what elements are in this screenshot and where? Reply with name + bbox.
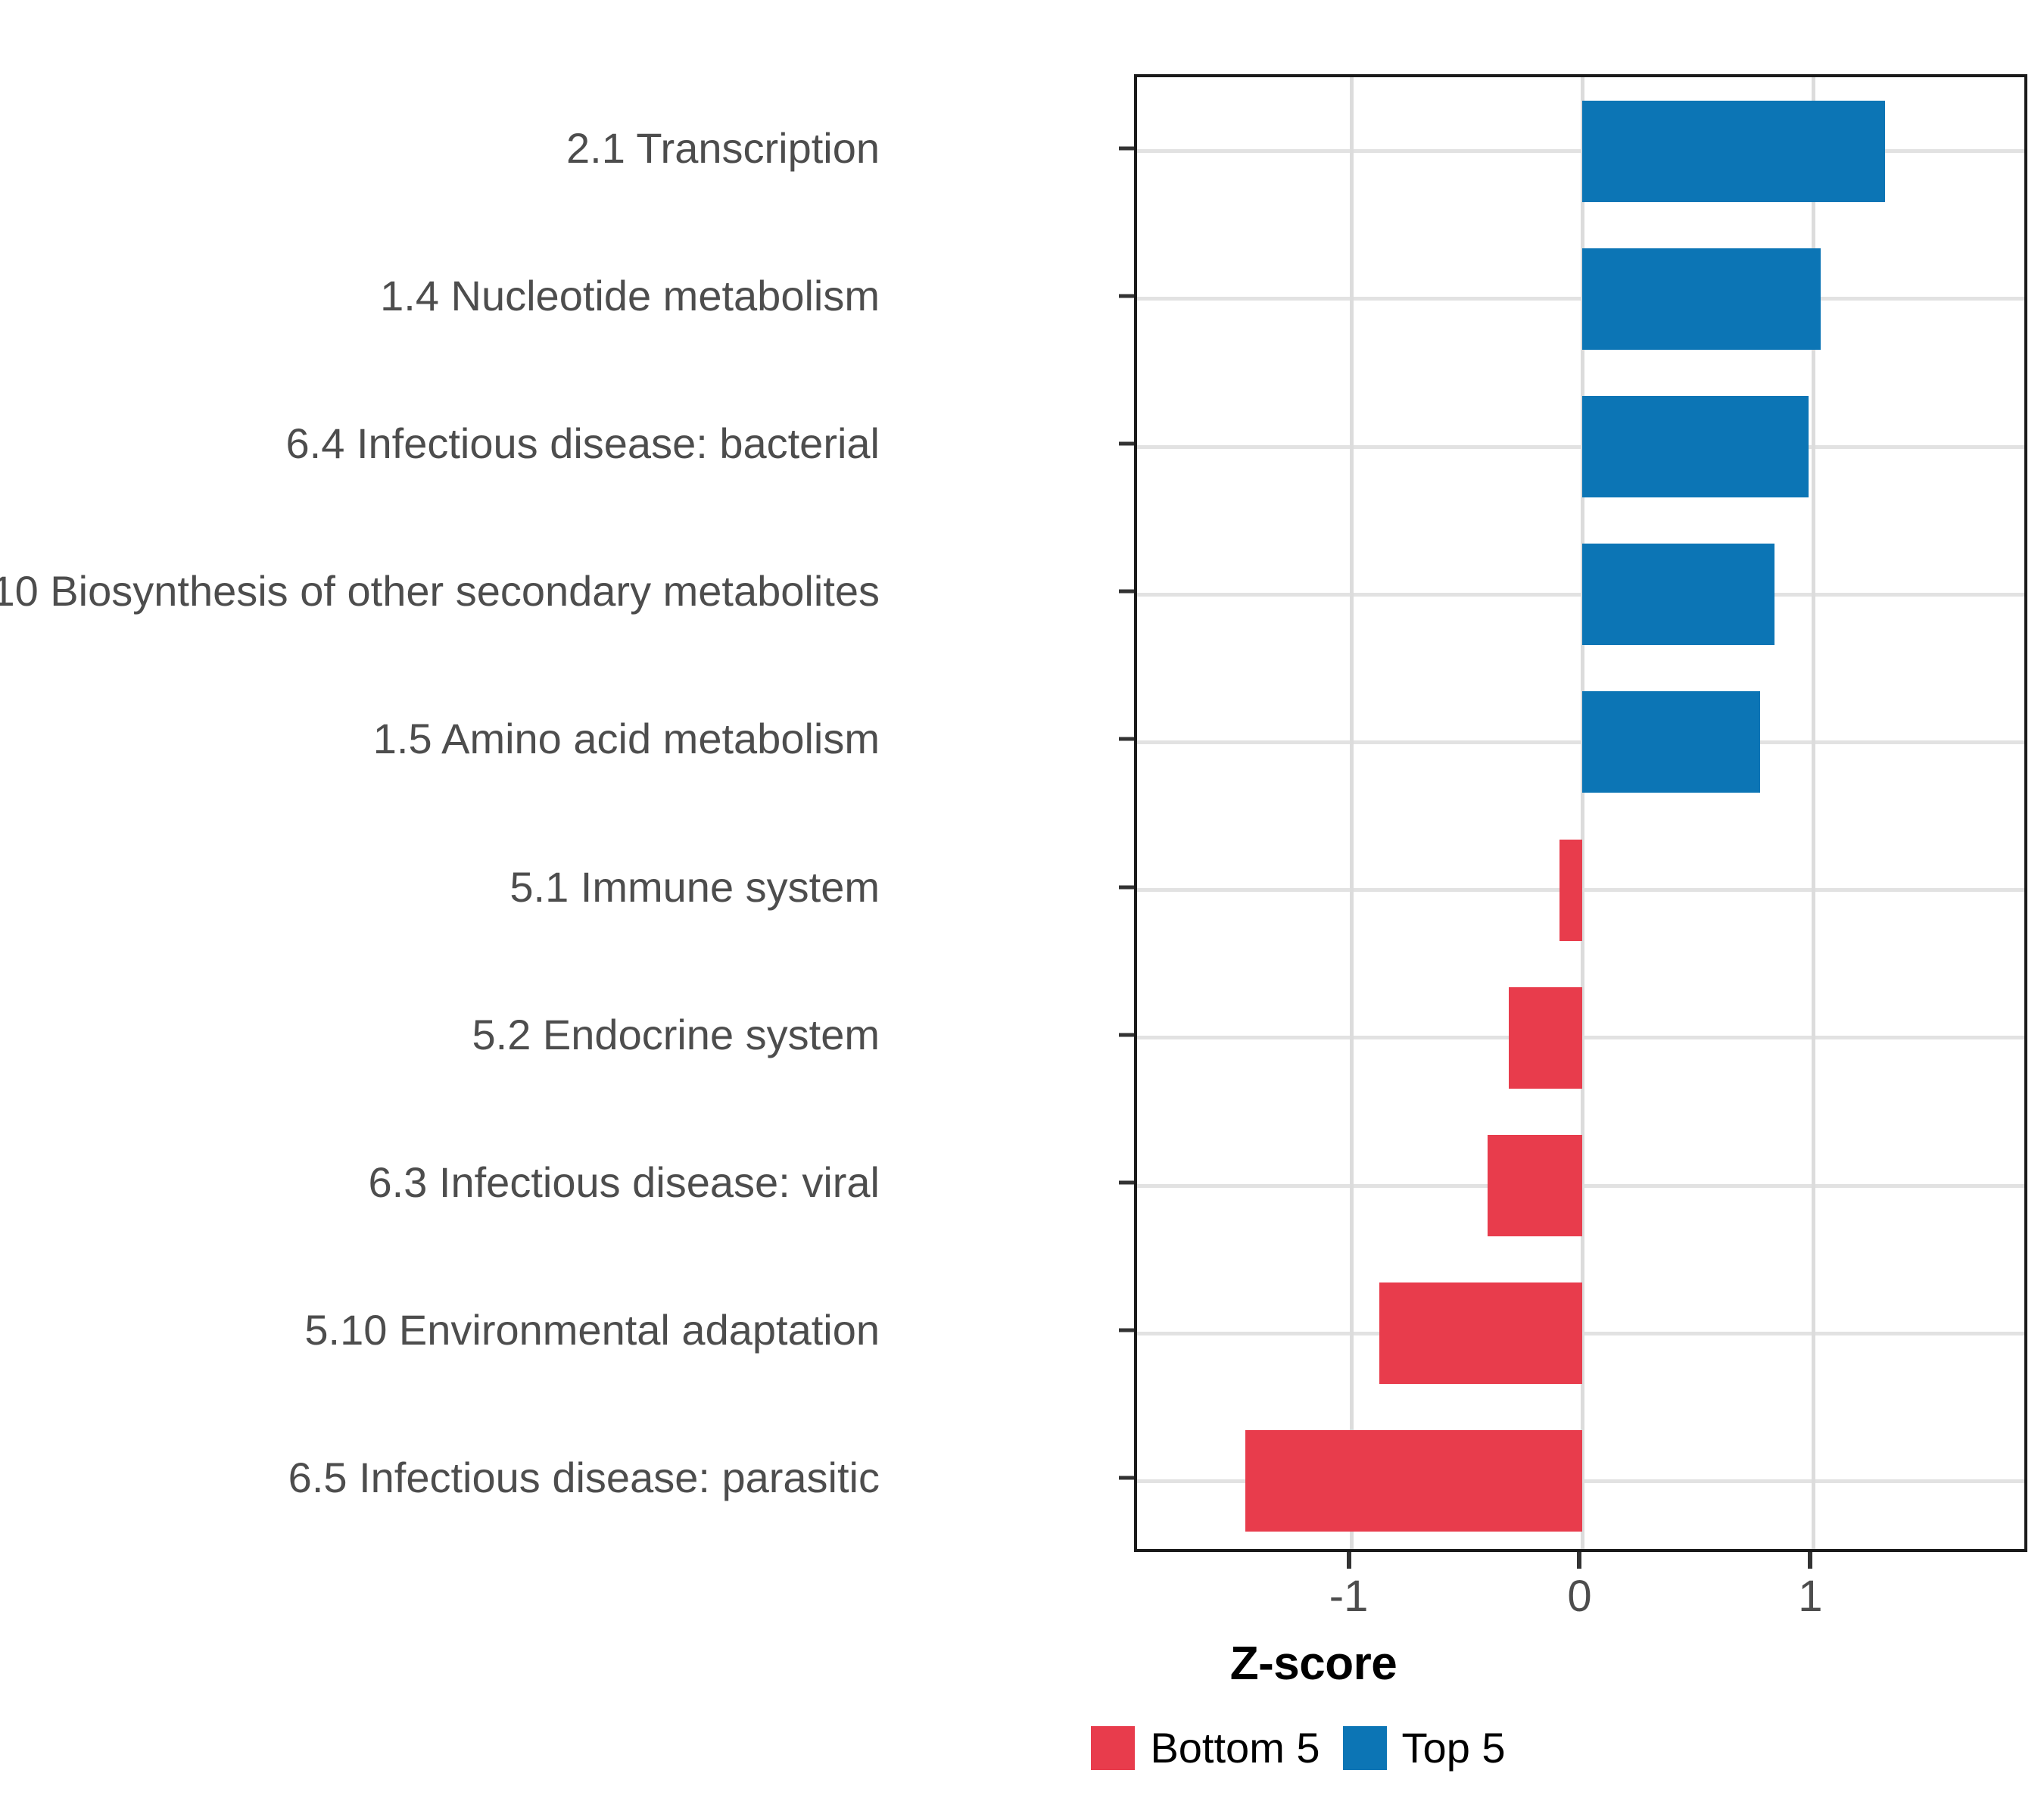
bar-chart-figure: 2.1 Transcription1.4 Nucleotide metaboli… — [0, 0, 2044, 1817]
category-axis-tick — [1119, 146, 1134, 150]
x-axis-tick-label: 0 — [1567, 1575, 1591, 1619]
category-axis-label: 6.3 Infectious disease: viral — [369, 1161, 880, 1204]
legend-entry[interactable]: Top 5 — [1343, 1726, 1506, 1770]
legend: Bottom 5Top 5 — [0, 1726, 2044, 1770]
bar[interactable] — [1582, 396, 1809, 497]
category-axis-tick — [1119, 885, 1134, 889]
x-axis-title: Z-score — [0, 1637, 2044, 1691]
x-axis-tick — [1347, 1552, 1351, 1569]
bar[interactable] — [1582, 248, 1820, 350]
x-axis-tick-label: -1 — [1329, 1575, 1369, 1619]
category-axis-tick — [1119, 1181, 1134, 1185]
x-axis-tick — [1577, 1552, 1581, 1569]
category-axis-tick — [1119, 590, 1134, 594]
x-axis-title-text: Z-score — [1230, 1637, 1397, 1691]
category-axis-label: 1.4 Nucleotide metabolism — [380, 275, 880, 317]
x-axis-tick — [1808, 1552, 1812, 1569]
category-axis-label: 2.1 Transcription — [566, 127, 880, 170]
x-axis-tick-label: 1 — [1798, 1575, 1822, 1619]
category-axis-tick — [1119, 1033, 1134, 1036]
category-axis-tick — [1119, 442, 1134, 446]
bar[interactable] — [1559, 840, 1582, 941]
bar[interactable] — [1582, 101, 1884, 202]
category-axis-label: 1.5 Amino acid metabolism — [373, 718, 880, 760]
bar[interactable] — [1509, 987, 1583, 1089]
category-axis-label: 5.1 Immune system — [509, 866, 880, 908]
category-axis-label: 1.10 Biosynthesis of other secondary met… — [0, 570, 880, 612]
category-axis-label: 5.2 Endocrine system — [472, 1014, 880, 1056]
legend-entry[interactable]: Bottom 5 — [1091, 1726, 1320, 1770]
category-axis-label: 6.5 Infectious disease: parasitic — [288, 1457, 880, 1499]
plot-panel — [1134, 74, 2027, 1552]
legend-label: Top 5 — [1402, 1727, 1506, 1769]
bar[interactable] — [1488, 1135, 1582, 1236]
bar[interactable] — [1582, 544, 1774, 645]
legend-entries: Bottom 5Top 5 — [1091, 1726, 1505, 1770]
category-axis-tick — [1119, 1476, 1134, 1480]
category-axis-tick — [1119, 294, 1134, 298]
bar[interactable] — [1245, 1430, 1582, 1532]
bar[interactable] — [1582, 691, 1760, 793]
legend-color-swatch — [1091, 1726, 1135, 1770]
category-axis-label: 5.10 Environmental adaptation — [304, 1309, 880, 1351]
gridline-vertical — [1350, 77, 1354, 1549]
bar[interactable] — [1379, 1282, 1582, 1384]
category-axis-label: 6.4 Infectious disease: bacterial — [286, 422, 880, 465]
category-axis-tick — [1119, 737, 1134, 741]
category-axis-tick — [1119, 1329, 1134, 1332]
legend-label: Bottom 5 — [1150, 1727, 1320, 1769]
legend-color-swatch — [1343, 1726, 1387, 1770]
